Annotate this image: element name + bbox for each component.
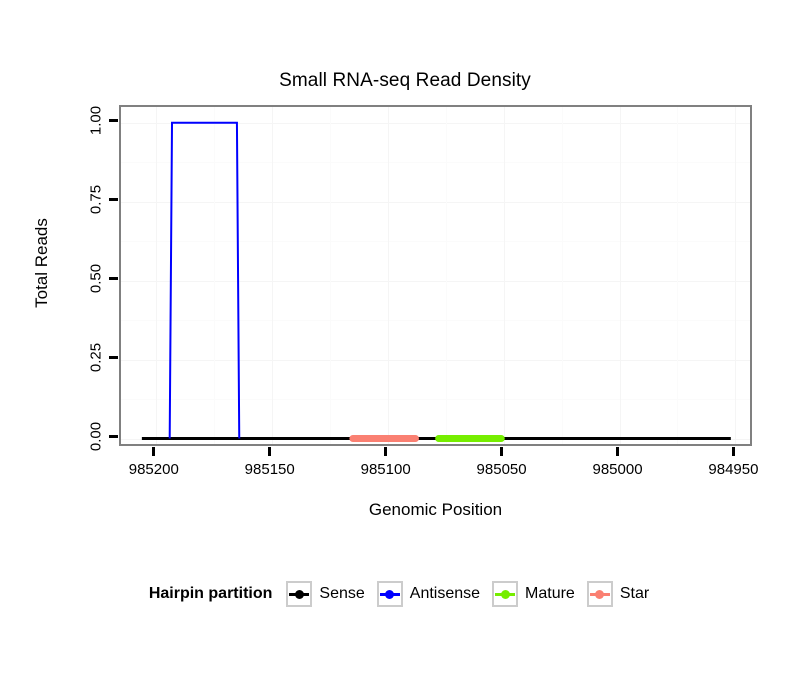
- legend-item-mature[interactable]: Mature: [492, 581, 575, 607]
- y-tick-label: 0.00: [88, 408, 105, 464]
- series-line-antisense: [170, 123, 240, 439]
- legend-items: SenseAntisenseMatureStar: [286, 581, 661, 607]
- x-tick-label: 985150: [225, 461, 315, 478]
- y-axis-title: Total Reads: [32, 183, 52, 343]
- x-tick-mark: [500, 447, 503, 456]
- chart-legend: Hairpin partition SenseAntisenseMatureSt…: [0, 581, 810, 607]
- y-tick-label: 1.00: [88, 92, 105, 148]
- legend-key-dot: [595, 590, 604, 599]
- chart-title: Small RNA-seq Read Density: [0, 70, 810, 92]
- legend-item-label: Star: [620, 585, 649, 603]
- line-dot-icon: [286, 581, 312, 607]
- y-tick-mark: [109, 356, 118, 359]
- x-tick-mark: [268, 447, 271, 456]
- y-tick-mark: [109, 435, 118, 438]
- x-tick-label: 985200: [109, 461, 199, 478]
- y-tick-mark: [109, 119, 118, 122]
- legend-item-label: Antisense: [410, 585, 480, 603]
- line-dot-icon: [492, 581, 518, 607]
- x-tick-mark: [616, 447, 619, 456]
- y-tick-mark: [109, 277, 118, 280]
- y-tick-mark: [109, 198, 118, 201]
- series-layer: [121, 107, 750, 444]
- x-tick-label: 984950: [688, 461, 778, 478]
- x-tick-mark: [152, 447, 155, 456]
- x-tick-label: 985100: [341, 461, 431, 478]
- legend-item-label: Sense: [319, 585, 364, 603]
- x-tick-label: 985050: [457, 461, 547, 478]
- x-tick-mark: [732, 447, 735, 456]
- x-tick-label: 985000: [573, 461, 663, 478]
- x-tick-mark: [384, 447, 387, 456]
- series-svg: [121, 107, 752, 446]
- line-dot-icon: [587, 581, 613, 607]
- legend-key-dot: [295, 590, 304, 599]
- x-axis-title: Genomic Position: [119, 500, 752, 520]
- legend-item-star[interactable]: Star: [587, 581, 649, 607]
- legend-key-dot: [501, 590, 510, 599]
- line-dot-icon: [377, 581, 403, 607]
- legend-title: Hairpin partition: [149, 585, 273, 603]
- legend-item-sense[interactable]: Sense: [286, 581, 364, 607]
- y-tick-label: 0.25: [88, 329, 105, 385]
- legend-item-label: Mature: [525, 585, 575, 603]
- y-tick-label: 0.75: [88, 171, 105, 227]
- y-tick-label: 0.50: [88, 250, 105, 306]
- legend-key-dot: [385, 590, 394, 599]
- legend-item-antisense[interactable]: Antisense: [377, 581, 480, 607]
- plot-panel: [119, 105, 752, 446]
